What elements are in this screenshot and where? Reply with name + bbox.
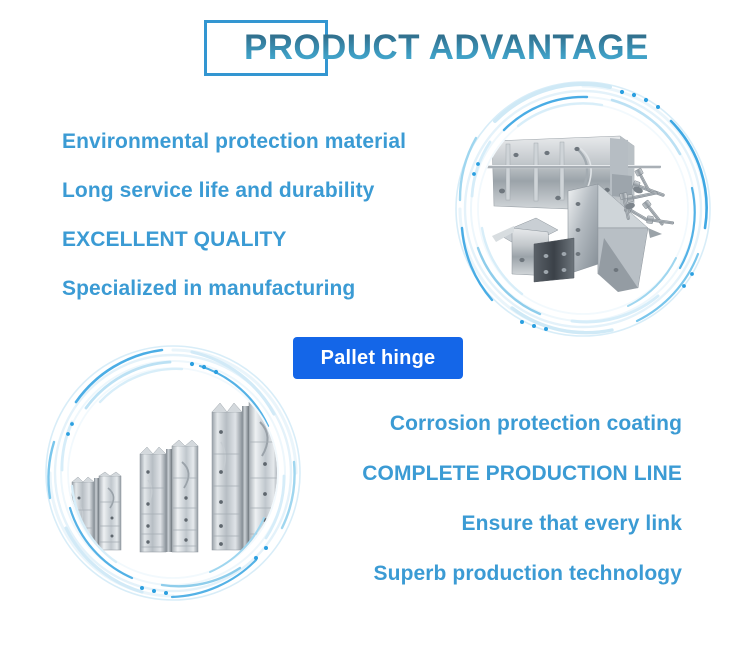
feature-item: EXCELLENT QUALITY: [62, 228, 422, 252]
feature-item: COMPLETE PRODUCTION LINE: [330, 462, 682, 486]
feature-list-right: Corrosion protection coating COMPLETE PR…: [330, 412, 682, 612]
feature-item: Specialized in manufacturing: [62, 277, 422, 301]
product-image-bottom-left: [42, 342, 304, 604]
circular-arc-frame: [452, 78, 714, 340]
circular-arc-frame: [42, 342, 304, 604]
page-title: PRODUCT ADVANTAGE: [244, 18, 704, 78]
feature-item: Ensure that every link: [330, 512, 682, 536]
feature-list-left: Environmental protection material Long s…: [62, 130, 422, 326]
feature-item: Superb production technology: [330, 562, 682, 586]
feature-item: Environmental protection material: [62, 130, 422, 154]
product-image-top-right: [452, 78, 714, 340]
page-title-block: PRODUCT ADVANTAGE: [204, 20, 328, 76]
feature-item: Long service life and durability: [62, 179, 422, 203]
pallet-hinge-button[interactable]: Pallet hinge: [293, 337, 463, 379]
feature-item: Corrosion protection coating: [330, 412, 682, 436]
